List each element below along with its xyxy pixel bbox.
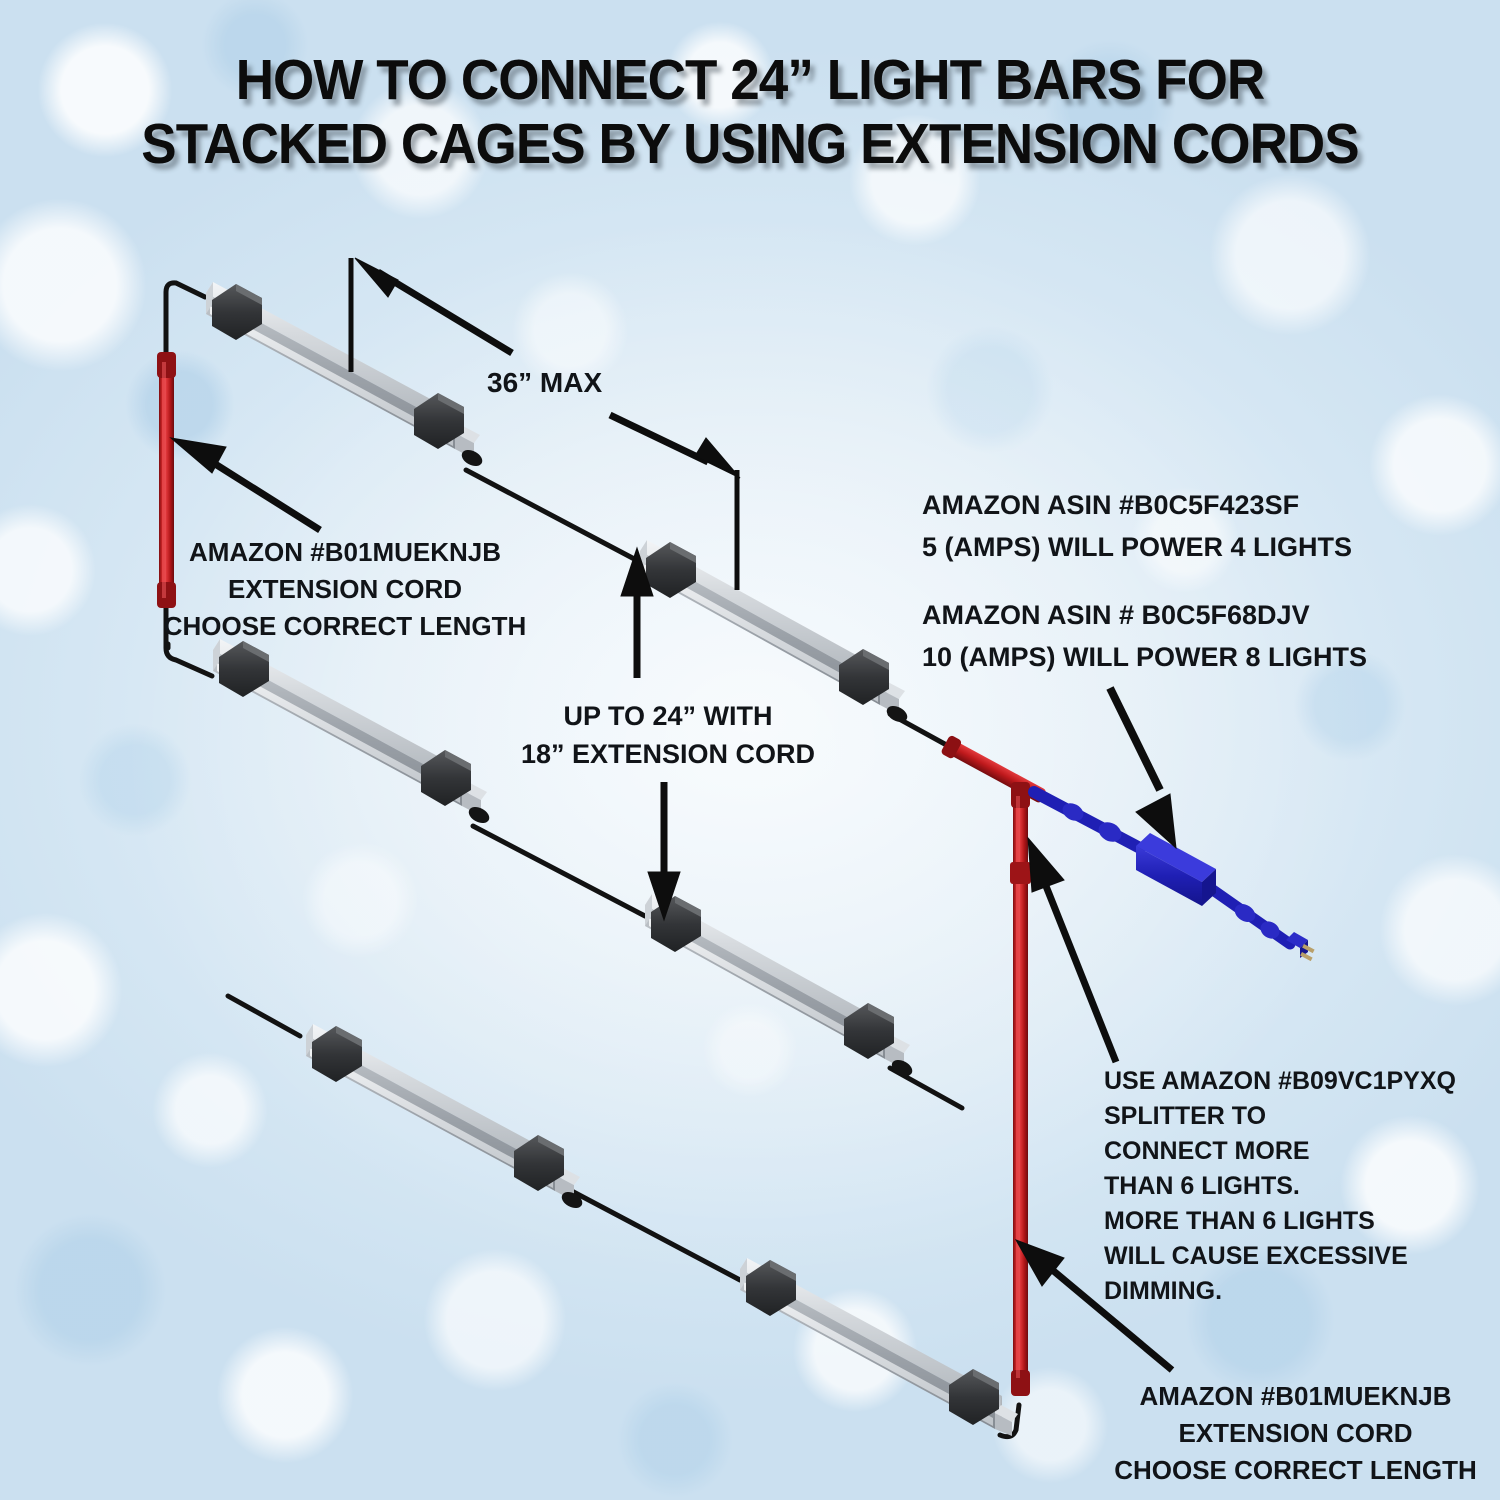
cable-network — [166, 283, 1019, 1437]
note-extension-cord-left: AMAZON #B01MUEKNJB EXTENSION CORD CHOOSE… — [160, 534, 530, 645]
note-max-span: 36” MAX — [487, 366, 602, 400]
cord-end-cap — [1011, 1370, 1030, 1396]
adapter-cable-in — [1034, 792, 1140, 848]
cord-coupler — [1010, 862, 1031, 884]
cable-row3-free-lead — [228, 996, 300, 1036]
infographic-canvas: HOW TO CONNECT 24” LIGHT BARS FOR STACKE… — [0, 0, 1500, 1500]
note-extension-cord-right: AMAZON #B01MUEKNJB EXTENSION CORD CHOOSE… — [1098, 1378, 1493, 1489]
note-asin-10amp: AMAZON ASIN # B0C5F68DJV 10 (AMPS) WILL … — [922, 594, 1367, 678]
light-bar — [645, 894, 915, 1079]
cable-top-left-hook — [166, 283, 205, 352]
arrow-36max-right-shaft — [610, 415, 708, 462]
arrow-36max-left-shaft — [378, 272, 512, 353]
light-bar — [213, 639, 492, 826]
note-gap-distance: UP TO 24” WITH 18” EXTENSION CORD — [498, 697, 838, 773]
arrow-splitter-shaft — [1042, 876, 1116, 1062]
cable-row2-link — [473, 826, 645, 916]
arrow-36max-left-head — [355, 258, 398, 297]
power-adapter — [1034, 792, 1315, 961]
extension-cord-right — [940, 735, 1048, 1396]
arrow-36max-right-head — [695, 438, 740, 478]
arrow-cord-left-shaft — [212, 462, 320, 530]
light-bar — [306, 1024, 585, 1211]
light-bar — [740, 1258, 1018, 1436]
cable-row3-link — [566, 1188, 740, 1280]
note-splitter: USE AMAZON #B09VC1PYXQ SPLITTER TO CONNE… — [1104, 1064, 1456, 1309]
light-bar-row-3 — [306, 1024, 1018, 1436]
cord-end-cap — [1011, 782, 1030, 808]
arrow-adapter-shaft — [1110, 688, 1160, 790]
note-asin-5amp: AMAZON ASIN #B0C5F423SF 5 (AMPS) WILL PO… — [922, 484, 1352, 568]
light-bar-row-1 — [206, 282, 910, 725]
cord-end-cap — [157, 352, 176, 378]
arrow-splitter-head — [1028, 838, 1064, 892]
